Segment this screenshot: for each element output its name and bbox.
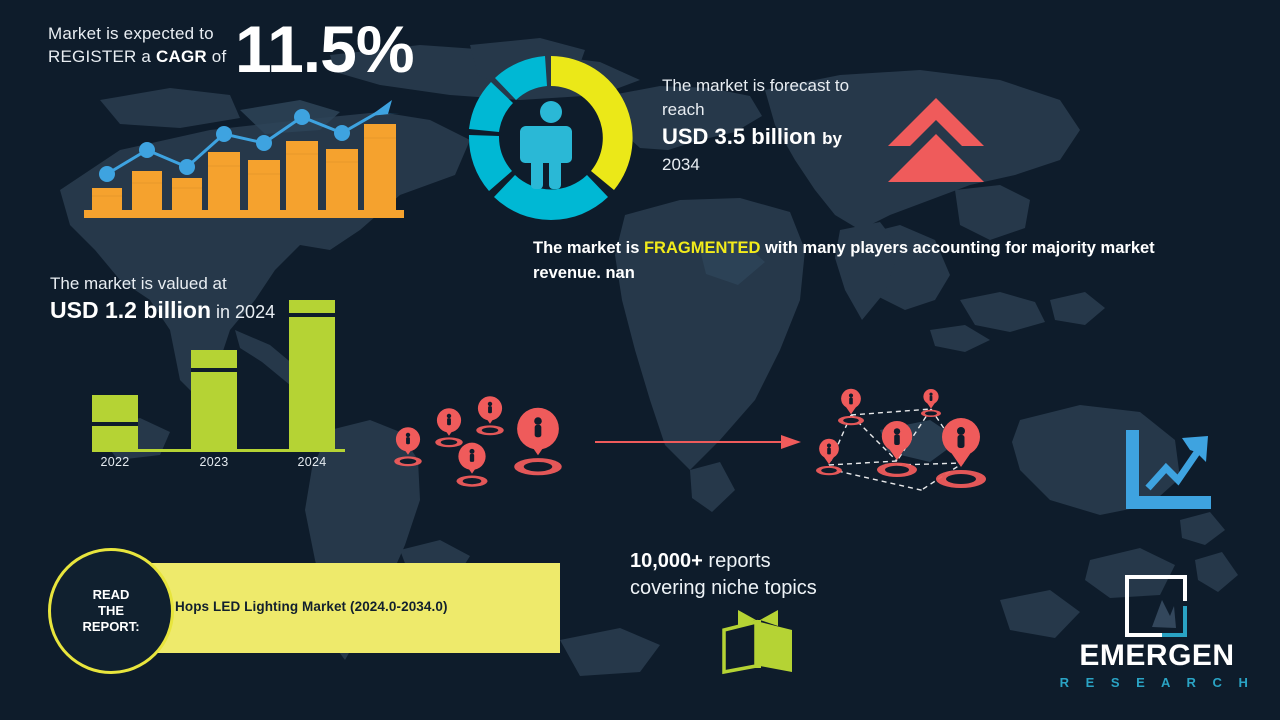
forecast-by-word: by xyxy=(822,129,842,148)
open-book-icon xyxy=(718,608,798,680)
location-pin xyxy=(435,408,463,447)
value-bar-2024 xyxy=(289,300,335,450)
growth-chart-baseline xyxy=(84,210,404,218)
forecast-year: 2034 xyxy=(662,154,902,176)
value-bar-2023 xyxy=(191,350,237,450)
market-value-bar-chart xyxy=(92,300,342,450)
arrow-head xyxy=(781,435,801,449)
location-pin xyxy=(457,443,488,487)
transition-arrow xyxy=(595,432,805,452)
forecast-value: USD 3.5 billion xyxy=(662,124,816,149)
cta-line3: REPORT: xyxy=(82,619,139,634)
location-pin xyxy=(476,396,504,435)
growth-trend-bar-chart xyxy=(70,88,410,223)
growth-chart-icon xyxy=(1122,430,1214,512)
bar-cut-line xyxy=(92,422,138,426)
location-pin xyxy=(514,408,562,475)
forecast-lead-line2: reach xyxy=(662,98,902,122)
growth-bars xyxy=(92,124,396,210)
book-spine xyxy=(755,620,761,668)
location-pin xyxy=(394,427,422,466)
networked-location-pins xyxy=(805,385,1025,510)
book-left-page xyxy=(724,622,756,672)
value-bar-2022 xyxy=(92,395,138,450)
fragmented-highlight: FRAGMENTED xyxy=(644,239,760,257)
reports-line2: covering niche topics xyxy=(630,575,930,602)
reports-line1-rest: reports xyxy=(703,550,771,572)
infographic-canvas: Market is expected to REGISTER a CAGR of… xyxy=(0,0,1280,720)
fragmented-pre: The market is xyxy=(533,239,644,257)
forecast-text-block: The market is forecast to reach USD 3.5 … xyxy=(662,74,902,176)
cta-line1: READ xyxy=(93,587,130,602)
reports-count-text: 10,000+ reports covering niche topics xyxy=(630,548,930,602)
cagr-lead-post: of xyxy=(207,47,227,66)
market-share-donut-chart xyxy=(466,50,636,225)
donut-segment-yellow xyxy=(551,56,633,190)
scattered-location-pins xyxy=(380,385,620,495)
donut-segment-cyan-2 xyxy=(469,135,512,191)
value-bar-label-2023: 2023 xyxy=(184,455,244,469)
book-right-page xyxy=(760,622,792,672)
emergen-logo-mark xyxy=(1122,572,1190,640)
trend-arrow-head xyxy=(370,100,400,116)
cta-line2: THE xyxy=(98,603,124,618)
location-pin xyxy=(921,389,941,417)
person-icon xyxy=(520,101,572,189)
valuation-lead: The market is valued at xyxy=(50,272,350,295)
cagr-value: 11.5% xyxy=(235,16,414,82)
cagr-lead-pre: REGISTER a xyxy=(48,47,156,66)
value-bar-label-2024: 2024 xyxy=(282,455,342,469)
report-title: Hops LED Lighting Market (2024.0-2034.0) xyxy=(175,599,545,614)
read-report-label: READ THE REPORT: xyxy=(82,587,139,635)
reports-line1: 10,000+ reports xyxy=(630,548,930,575)
location-pin xyxy=(877,421,917,477)
reports-count: 10,000+ xyxy=(630,550,703,572)
value-bar-label-2022: 2022 xyxy=(85,455,145,469)
chart-trend-line xyxy=(1148,448,1200,488)
fragmented-statement: The market is FRAGMENTED with many playe… xyxy=(533,236,1213,286)
read-report-button[interactable]: READ THE REPORT: xyxy=(48,548,174,674)
forecast-value-line: USD 3.5 billion by xyxy=(662,122,902,154)
cagr-keyword: CAGR xyxy=(156,47,207,66)
upward-chevrons-icon xyxy=(884,96,988,182)
location-pin xyxy=(838,389,864,425)
bar-cut-line xyxy=(191,368,237,372)
value-chart-baseline xyxy=(92,449,345,452)
logo-wordmark: EMERGEN xyxy=(1057,640,1257,672)
forecast-lead-line1: The market is forecast to xyxy=(662,74,902,98)
location-pin xyxy=(936,418,986,488)
bar-cut-line xyxy=(289,313,335,317)
logo-subtitle: R E S E A R C H xyxy=(1057,675,1257,691)
